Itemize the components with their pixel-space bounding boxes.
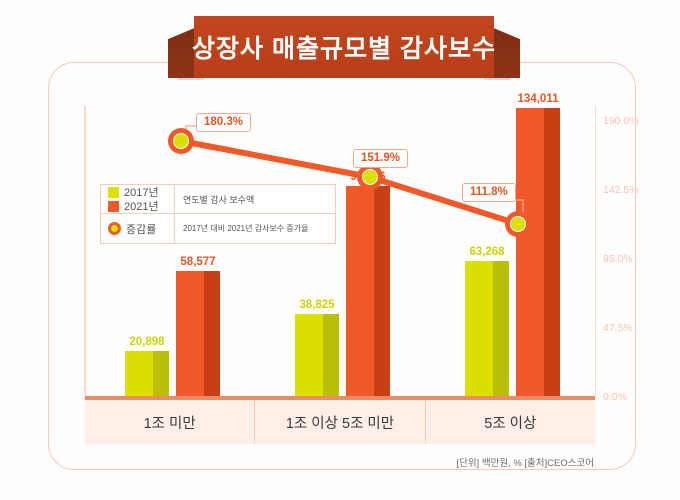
legend-key-2017: 2017년 xyxy=(108,185,174,199)
legend-swatch-2021-icon xyxy=(108,201,119,212)
y-axis-left xyxy=(84,106,86,398)
bar-2017-group1 xyxy=(125,351,169,398)
page-title: 상장사 매출규모별 감사보수 xyxy=(192,29,496,65)
rate-marker-group1 xyxy=(168,128,194,154)
y-tick-right-47-5: 47.5% xyxy=(603,322,633,334)
bar-side xyxy=(153,351,169,398)
marker-inner xyxy=(173,133,189,149)
bar-face xyxy=(125,351,153,398)
bar-2017-group2 xyxy=(295,314,339,398)
category-label-3: 5조 이상 xyxy=(425,400,595,444)
rate-callout-group3: 111.8% xyxy=(462,183,516,202)
legend-label-rate: 증감률 xyxy=(126,221,156,237)
bar-side xyxy=(204,271,220,398)
plot-area: 140,000 105,000 70,000 35,000 0 190.0% 1… xyxy=(85,106,595,398)
legend-desc-rate-cell: 2017년 대비 2021년 감사보수 증가율 xyxy=(175,214,335,243)
legend-keys-years: 2017년 2021년 xyxy=(101,185,175,213)
chart-legend: 2017년 2021년 연도별 감사 보수액 증감률 2017년 대비 2021… xyxy=(100,184,336,244)
category-axis: 1조 미만 1조 이상 5조 미만 5조 이상 xyxy=(85,400,595,444)
legend-row-bars: 2017년 2021년 연도별 감사 보수액 xyxy=(101,185,335,214)
y-axis-right xyxy=(595,106,597,398)
bar-side xyxy=(544,108,560,398)
category-label-1: 1조 미만 xyxy=(85,400,254,444)
bar-side xyxy=(323,314,339,398)
marker-inner xyxy=(510,216,526,232)
bar-label-2021-group3: 134,011 xyxy=(506,93,570,105)
legend-swatch-2017-icon xyxy=(108,187,119,198)
y-tick-right-0: 0.0% xyxy=(603,391,627,403)
marker-inner xyxy=(362,169,378,185)
bar-2021-group1 xyxy=(176,271,220,398)
legend-key-rate-cell: 증감률 xyxy=(101,214,175,243)
legend-desc-bars-cell: 연도별 감사 보수액 xyxy=(175,185,335,213)
y-tick-right-95: 95.0% xyxy=(603,253,633,265)
legend-key-2021: 2021년 xyxy=(108,199,174,213)
bar-2021-group3 xyxy=(516,108,560,398)
legend-key-rate: 증감률 xyxy=(108,222,174,236)
bar-side xyxy=(374,186,390,398)
infographic-root: 상장사 매출규모별 감사보수 140,000 105,000 70,000 35… xyxy=(0,0,680,500)
legend-row-rate: 증감률 2017년 대비 2021년 감사보수 증가율 xyxy=(101,214,335,243)
rate-marker-group3 xyxy=(505,211,531,237)
rate-callout-group1: 180.3% xyxy=(196,113,251,132)
bar-label-2017-group3: 63,268 xyxy=(455,246,519,258)
bar-2017-group3 xyxy=(465,261,509,398)
bar-2021-group2 xyxy=(346,186,390,398)
y-tick-right-142-5: 142.5% xyxy=(603,184,639,196)
source-note: [단위] 백만원, % [출처]CEO스코어 xyxy=(456,455,594,469)
bar-label-2021-group1: 58,577 xyxy=(166,256,230,268)
bar-face xyxy=(346,186,374,398)
bar-face xyxy=(295,314,323,398)
legend-label-2021: 2021년 xyxy=(124,198,159,214)
bar-face xyxy=(465,261,493,398)
legend-swatch-rate-icon xyxy=(108,222,121,235)
rate-callout-group2: 151.9% xyxy=(353,149,408,168)
y-tick-right-190: 190.0% xyxy=(603,115,639,127)
bar-face xyxy=(516,108,544,398)
bar-label-2017-group2: 38,825 xyxy=(285,299,349,311)
legend-desc-bars: 연도별 감사 보수액 xyxy=(183,193,254,206)
category-label-2: 1조 이상 5조 미만 xyxy=(254,400,424,444)
title-ribbon: 상장사 매출규모별 감사보수 xyxy=(168,16,520,78)
legend-desc-rate: 2017년 대비 2021년 감사보수 증가율 xyxy=(183,223,308,234)
bar-side xyxy=(493,261,509,398)
bar-face xyxy=(176,271,204,398)
bar-label-2017-group1: 20,898 xyxy=(115,336,179,348)
title-banner: 상장사 매출규모별 감사보수 xyxy=(194,16,494,78)
